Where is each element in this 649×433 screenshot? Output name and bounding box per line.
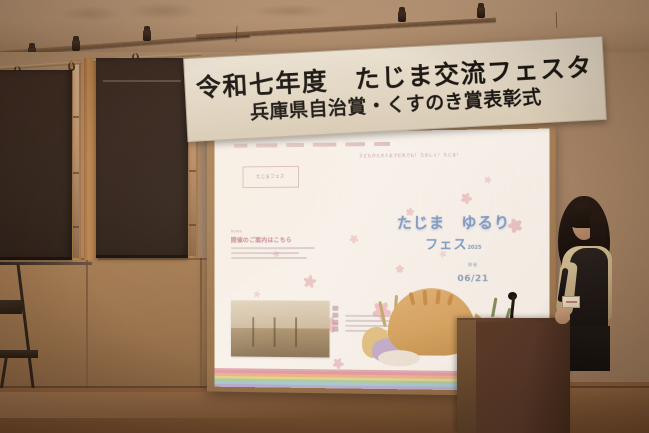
slide-hero-title: たじま ゆるり フェス2025 [379, 215, 529, 253]
ceiling-stain [60, 6, 120, 22]
blackout-curtain[interactable] [0, 70, 72, 260]
slide-site-logo-text: たじまフェス [256, 173, 285, 179]
left-column-kicker: NEWS [231, 229, 329, 233]
floor-reflection [0, 392, 460, 418]
track-light-fixture [398, 11, 406, 22]
sakura-petal [253, 290, 261, 298]
wheat-leaf [379, 301, 387, 327]
equipment-stand [0, 258, 92, 388]
hero-title-line1: たじま ゆるり [379, 215, 529, 231]
blackout-curtain[interactable] [96, 58, 188, 258]
slide-event-date: 開催 06/21 [457, 262, 488, 286]
slide-nav-bar [234, 138, 529, 149]
slide-site-logo: たじまフェス [242, 165, 298, 187]
speaker-box [0, 300, 22, 314]
event-date-label: 開催 [457, 262, 488, 268]
cat-paw [378, 350, 420, 367]
track-light-fixture [477, 7, 485, 18]
presenter [552, 196, 618, 371]
event-date-value: 06/21 [457, 274, 488, 284]
presenter-hand [555, 308, 570, 324]
sakura-petal [458, 190, 473, 205]
slide-left-column: NEWS 開催のご案内はこちら [231, 229, 329, 259]
slide-vertical-tag [332, 306, 338, 332]
track-light-fixture [72, 40, 80, 51]
ceiling-stain [128, 2, 198, 20]
sakura-petal [301, 274, 316, 289]
wall-panel-seam [200, 258, 202, 388]
sakura-petal [347, 232, 360, 245]
event-photo-scene: 子どもから大人までだれでも！ たのしく！ たじま！ たじまフェス たじま ゆるり… [0, 0, 649, 433]
left-column-heading: 開催のご案内はこちら [231, 235, 329, 244]
slide-tagline: 子どもから大人までだれでも！ たのしく！ たじま！ [359, 152, 461, 159]
sakura-petal [330, 356, 345, 371]
slide-thumbnail-photo [231, 301, 329, 358]
ceiling-stain [250, 4, 330, 18]
sakura-petal [483, 175, 492, 184]
hero-title-line2: フェス2025 [379, 234, 529, 253]
window-glass [73, 62, 79, 258]
presenter-skirt [570, 326, 610, 371]
presenter-name-badge [562, 296, 580, 308]
track-light-fixture [143, 30, 151, 41]
